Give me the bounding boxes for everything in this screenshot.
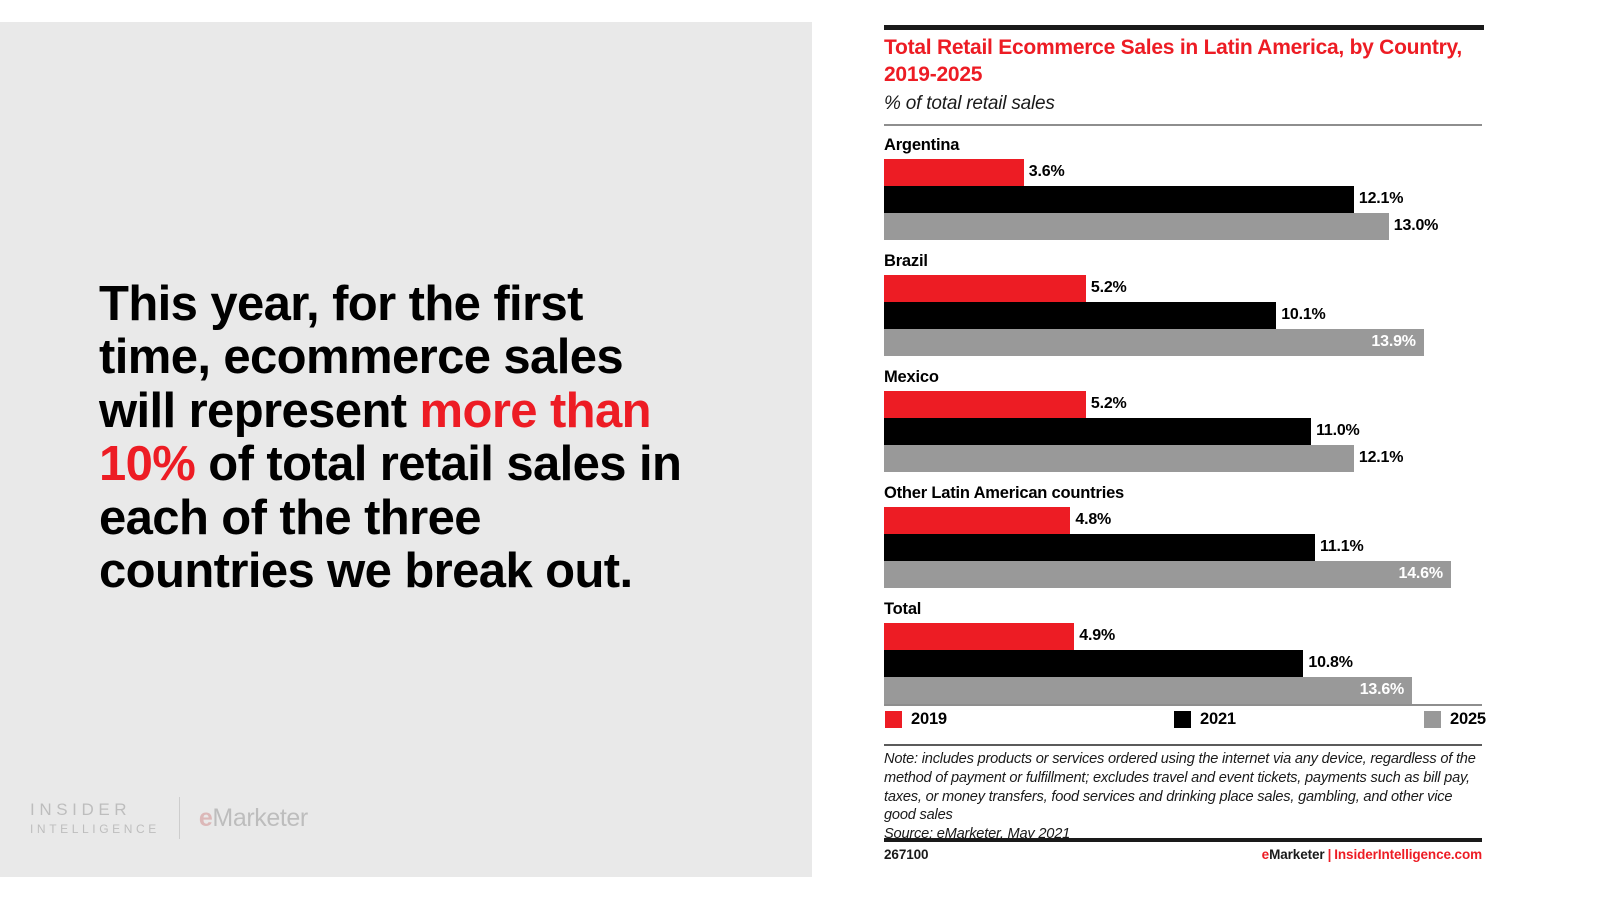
legend-item-2021[interactable]: 2021 [1174,710,1236,729]
bar-value-label: 5.2% [1091,395,1127,413]
legend-label: 2021 [1200,710,1236,729]
bar-row: 4.9% [884,623,1484,650]
legend-divider-rule [884,704,1482,706]
bar-2025[interactable]: 14.6% [884,561,1451,588]
bar-value-label: 10.1% [1281,306,1325,324]
bottom-rule [884,838,1482,842]
bar-value-label: 13.9% [1371,333,1415,351]
bar-group-label: Other Latin American countries [884,484,1484,503]
brand-divider [179,797,180,839]
bar-groups-container: Argentina3.6%12.1%13.0%Brazil5.2%10.1%13… [884,136,1484,704]
footer-brand: eMarketer|InsiderIntelligence.com [1262,847,1482,862]
bar-value-label: 11.0% [1316,422,1360,440]
legend-item-2025[interactable]: 2025 [1424,710,1486,729]
legend-swatch-2019 [885,711,902,728]
bar-group: Total4.9%10.8%13.6% [884,600,1484,704]
bar-value-label: 12.1% [1359,190,1403,208]
bar-value-label: 3.6% [1029,163,1065,181]
bar-value-label: 4.8% [1075,511,1111,529]
bar-2021[interactable] [884,186,1354,213]
header-divider-rule [884,124,1482,126]
bar-group: Brazil5.2%10.1%13.9% [884,252,1484,356]
bar-value-label: 10.8% [1308,654,1352,672]
bar-group-label: Total [884,600,1484,619]
footer-brand-site[interactable]: InsiderIntelligence.com [1334,847,1482,862]
chart-footer: 267100 eMarketer|InsiderIntelligence.com [884,843,1482,865]
bar-row: 12.1% [884,445,1484,472]
bar-value-label: 4.9% [1079,627,1115,645]
legend-label: 2025 [1450,710,1486,729]
bar-row: 13.6% [884,677,1484,704]
callout-panel: This year, for the first time, ecommerce… [0,22,812,877]
bar-row: 12.1% [884,186,1484,213]
bar-row: 10.1% [884,302,1484,329]
bar-2021[interactable] [884,650,1303,677]
legend-label: 2019 [911,710,947,729]
bar-2019[interactable] [884,507,1070,534]
bar-2021[interactable] [884,418,1311,445]
bar-group-label: Brazil [884,252,1484,271]
headline-text: This year, for the first time, ecommerce… [99,278,699,598]
bar-value-label: 11.1% [1320,538,1364,556]
bar-row: 14.6% [884,561,1484,588]
bar-2025[interactable]: 13.9% [884,329,1424,356]
bar-group-label: Mexico [884,368,1484,387]
bar-row: 5.2% [884,391,1484,418]
insider-logo-line-1: INSIDER [30,801,160,818]
top-rule [884,25,1484,30]
bar-row: 10.8% [884,650,1484,677]
bar-group-label: Argentina [884,136,1484,155]
bar-2021[interactable] [884,302,1276,329]
bar-group: Mexico5.2%11.0%12.1% [884,368,1484,472]
emarketer-logo: eMarketer [199,804,308,833]
bar-2025[interactable]: 13.6% [884,677,1412,704]
bar-row: 4.8% [884,507,1484,534]
bar-2019[interactable] [884,391,1086,418]
bar-2019[interactable] [884,275,1086,302]
bar-2025[interactable] [884,213,1389,240]
bar-row: 13.9% [884,329,1484,356]
emarketer-logo-e: e [199,804,213,832]
bar-2025[interactable] [884,445,1354,472]
insider-logo-line-2: INTELLIGENCE [30,823,160,835]
bar-value-label: 12.1% [1359,449,1403,467]
bar-row: 5.2% [884,275,1484,302]
bar-row: 11.0% [884,418,1484,445]
chart-title: Total Retail Ecommerce Sales in Latin Am… [884,35,1482,88]
bar-2019[interactable] [884,623,1074,650]
insider-intelligence-logo: INSIDER INTELLIGENCE [30,801,160,835]
bar-row: 3.6% [884,159,1484,186]
bar-2019[interactable] [884,159,1024,186]
bar-value-label: 5.2% [1091,279,1127,297]
legend-item-2019[interactable]: 2019 [885,710,947,729]
footer-brand-separator: | [1325,847,1335,862]
note-divider-rule [884,744,1482,746]
chart-legend: 201920212025 [884,710,1482,736]
legend-swatch-2021 [1174,711,1191,728]
bar-row: 13.0% [884,213,1484,240]
note-block: Note: includes products or services orde… [884,750,1484,844]
note-text: Note: includes products or services orde… [884,750,1484,825]
footer-brand-e: e [1262,847,1269,862]
infographic-canvas: This year, for the first time, ecommerce… [0,0,1600,900]
chart-panel: Total Retail Ecommerce Sales in Latin Am… [884,0,1484,900]
bar-value-label: 13.6% [1360,681,1404,699]
bar-group: Other Latin American countries4.8%11.1%1… [884,484,1484,588]
emarketer-logo-text: Marketer [212,804,307,832]
legend-swatch-2025 [1424,711,1441,728]
bar-group: Argentina3.6%12.1%13.0% [884,136,1484,240]
bar-value-label: 14.6% [1399,565,1443,583]
bar-row: 11.1% [884,534,1484,561]
bar-value-label: 13.0% [1394,217,1438,235]
brand-lockup-watermark: INSIDER INTELLIGENCE eMarketer [30,797,308,839]
footer-brand-name: Marketer [1269,847,1324,862]
chart-subtitle: % of total retail sales [884,93,1055,115]
chart-id-number: 267100 [884,847,928,862]
bar-2021[interactable] [884,534,1315,561]
